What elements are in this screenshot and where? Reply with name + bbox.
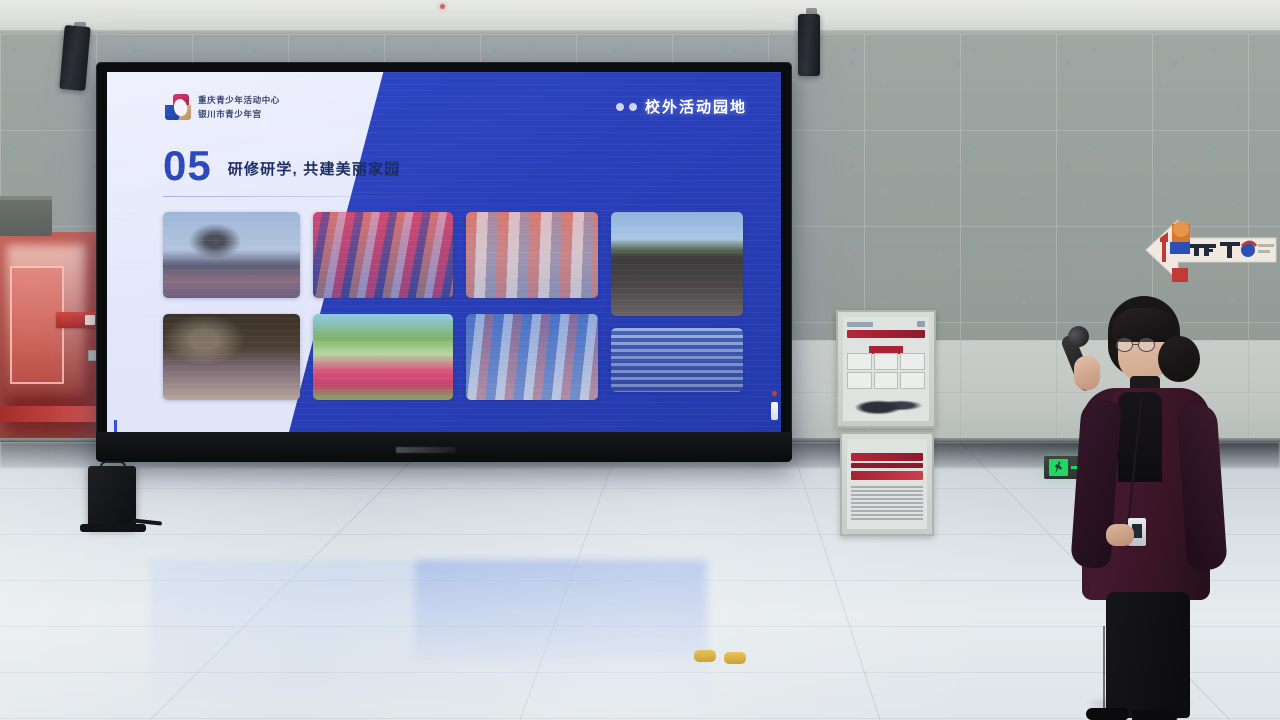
presenter-shoe-left [1086,708,1128,720]
poster-brand-icon [847,322,873,327]
equipment-case [88,466,136,528]
case-handle [100,461,126,468]
section-underline [163,196,463,197]
poster-icon-grid [847,353,925,389]
presenter-hand-lower [1106,524,1134,546]
header-dots [616,103,637,111]
ceiling-sensor-icon [440,4,445,9]
poster-notice-text [851,486,923,520]
niche-upper-block [0,196,52,236]
speaker-left [59,25,90,91]
presenter-leg-separation [1103,626,1105,714]
photo-5: 小小解说员 重走长征路 [163,314,300,400]
poster-notice-band [851,453,923,461]
presenter-hand-holding-mic [1074,356,1100,390]
youth-center-logo-icon [165,94,191,120]
header-dot-1-icon [616,103,624,111]
poster-notice [840,432,934,536]
display-blue-indicator [114,420,117,432]
presenter-trousers [1106,592,1190,718]
photo-3: 校园大舞台 才艺展演 [466,212,598,298]
slide-header-title: 校外活动园地 [645,96,747,117]
display-status-dot-icon [772,391,777,396]
ceiling [0,0,1280,34]
header-dot-2-icon [629,103,637,111]
photo-4 [611,212,743,316]
poster-illustration [847,393,925,417]
presenter-hair-front [1112,308,1176,342]
photo-grid: 艺术介研学 寻川省民族文化 民族服饰展演少儿合唱 校园大舞台 才艺展演 小小解说… [163,212,743,412]
poster-fire-subtitle [847,341,925,349]
presenter-shoe-right [1132,710,1178,720]
speaker-right [798,14,820,76]
niche-upper-edge [0,196,52,200]
niche-strip [0,406,104,422]
logo-line-2: 银川市青少年宫 [198,108,280,120]
glasses-icon [1116,338,1158,352]
presenter-hair-bun [1158,336,1200,382]
display-screen: 重庆青少年活动中心 银川市青少年宫 校外活动园地 05 研修研学, 共建美丽家园 [107,72,781,432]
photo-2: 民族服饰展演少儿合唱 [313,212,453,298]
floor-marker-1 [694,650,716,662]
poster-fire-band [847,330,925,338]
red-lit-display-niche [0,232,104,438]
decorative-wall-graphic [1138,198,1280,306]
floor-marker-2 [724,652,746,664]
poster-mark-icon [917,321,925,327]
section-number: 05 [163,148,212,184]
display-bottom-bezel [96,432,792,462]
poster-notice-band3 [851,471,923,480]
photo-1: 艺术介研学 寻川省民族文化 [163,212,300,298]
section-title: 研修研学, 共建美丽家园 [228,158,401,184]
poster-notice-band2 [851,463,923,468]
poster-fire-safety [836,310,936,428]
organization-logo: 重庆青少年活动中心 银川市青少年宫 [165,94,280,120]
display-power-indicator [771,402,778,420]
led-wall-display[interactable]: 重庆青少年活动中心 银川市青少年宫 校外活动园地 05 研修研学, 共建美丽家园 [96,62,792,462]
slide-header: 校外活动园地 [616,96,747,117]
photo-7: 红心向党 少先队员 [466,314,598,400]
display-brand-mark [396,447,456,453]
wall-sign-plate [56,312,98,328]
slide-section-heading: 05 研修研学, 共建美丽家园 [163,148,400,184]
room-scene: 重庆青少年活动中心 银川市青少年宫 校外活动园地 05 研修研学, 共建美丽家园 [0,0,1280,720]
photo-6: 踏青行军 亲子研学 社会实践 [313,314,453,400]
presentation-slide: 重庆青少年活动中心 银川市青少年宫 校外活动园地 05 研修研学, 共建美丽家园 [107,72,781,432]
case-base [80,524,146,532]
logo-line-1: 重庆青少年活动中心 [198,94,280,106]
photo-8: 高中思想年 夏令营活动 [611,328,743,392]
presenter [1062,296,1226,720]
